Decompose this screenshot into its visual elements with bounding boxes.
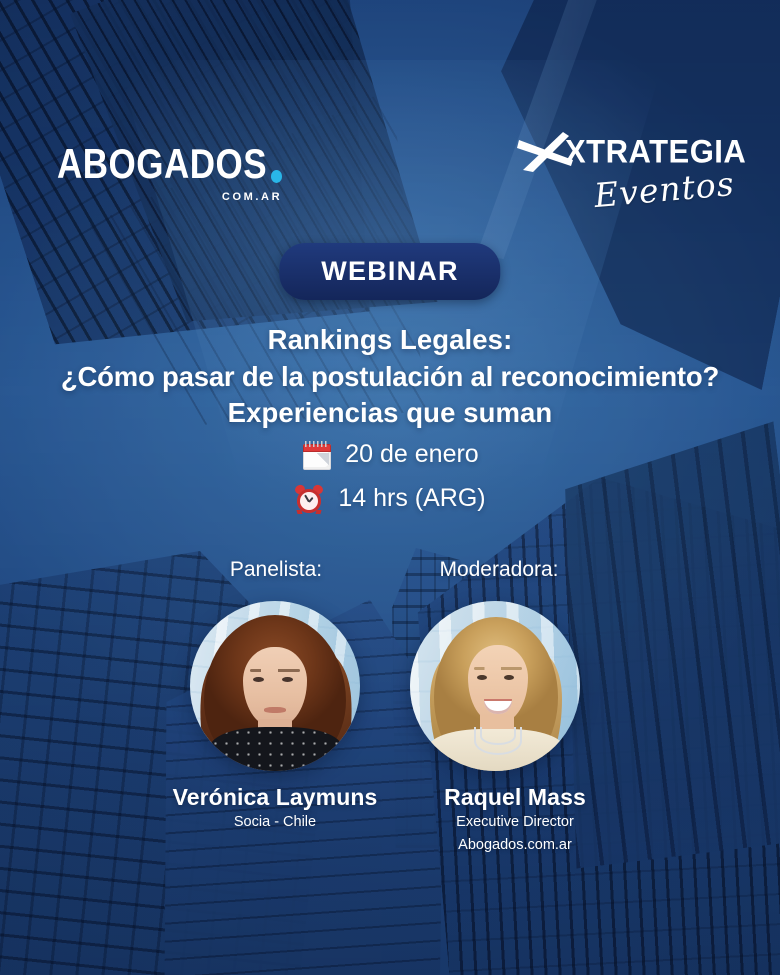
speaker-card-right: Raquel Mass Executive Director Abogados.… — [375, 784, 655, 855]
event-date-text: 20 de enero — [345, 440, 478, 469]
speaker-name-right: Raquel Mass — [375, 784, 655, 810]
abogados-wordmark-text: ABOGADOS — [57, 144, 267, 185]
speaker-role-left: Socia - Chile — [135, 813, 415, 832]
abogados-domain: COM.AR — [57, 191, 282, 203]
alarm-clock-icon — [294, 484, 324, 514]
webinar-poster: ABOGADOS COM.AR XTRATEGIA Eventos WEBINA… — [0, 0, 780, 975]
abogados-wordmark: ABOGADOS — [57, 144, 282, 185]
portrait-veronica-laymuns — [190, 601, 360, 771]
speaker-org-right: Abogados.com.ar — [375, 836, 655, 855]
webinar-badge: WEBINAR — [279, 243, 500, 300]
portrait-raquel-mass — [410, 601, 580, 771]
title-line-1: Rankings Legales: — [0, 322, 780, 359]
title-line-2: ¿Cómo pasar de la postulación al reconoc… — [0, 359, 780, 396]
speaker-name-left: Verónica Laymuns — [135, 784, 415, 810]
event-date-row: 20 de enero — [0, 440, 780, 470]
role-label-panelist: Panelista: — [196, 558, 356, 582]
title-line-3: Experiencias que suman — [0, 395, 780, 432]
xtrategia-logo: XTRATEGIA Eventos — [523, 132, 733, 220]
event-time-row: 14 hrs (ARG) — [0, 484, 780, 514]
abogados-logo: ABOGADOS COM.AR — [57, 144, 282, 203]
speaker-role-right: Executive Director — [375, 813, 655, 832]
speaker-card-left: Verónica Laymuns Socia - Chile — [135, 784, 415, 833]
role-label-moderator: Moderadora: — [414, 558, 584, 582]
abogados-dot-icon — [271, 170, 282, 183]
page-title: Rankings Legales: ¿Cómo pasar de la post… — [0, 322, 780, 432]
event-details: 20 de enero 14 hrs (ARG) — [0, 440, 780, 528]
poster-content: ABOGADOS COM.AR XTRATEGIA Eventos WEBINA… — [0, 0, 780, 975]
calendar-icon — [301, 440, 331, 470]
portrait-left-image — [190, 601, 360, 771]
portrait-right-image — [410, 601, 580, 771]
event-time-text: 14 hrs (ARG) — [338, 484, 485, 513]
